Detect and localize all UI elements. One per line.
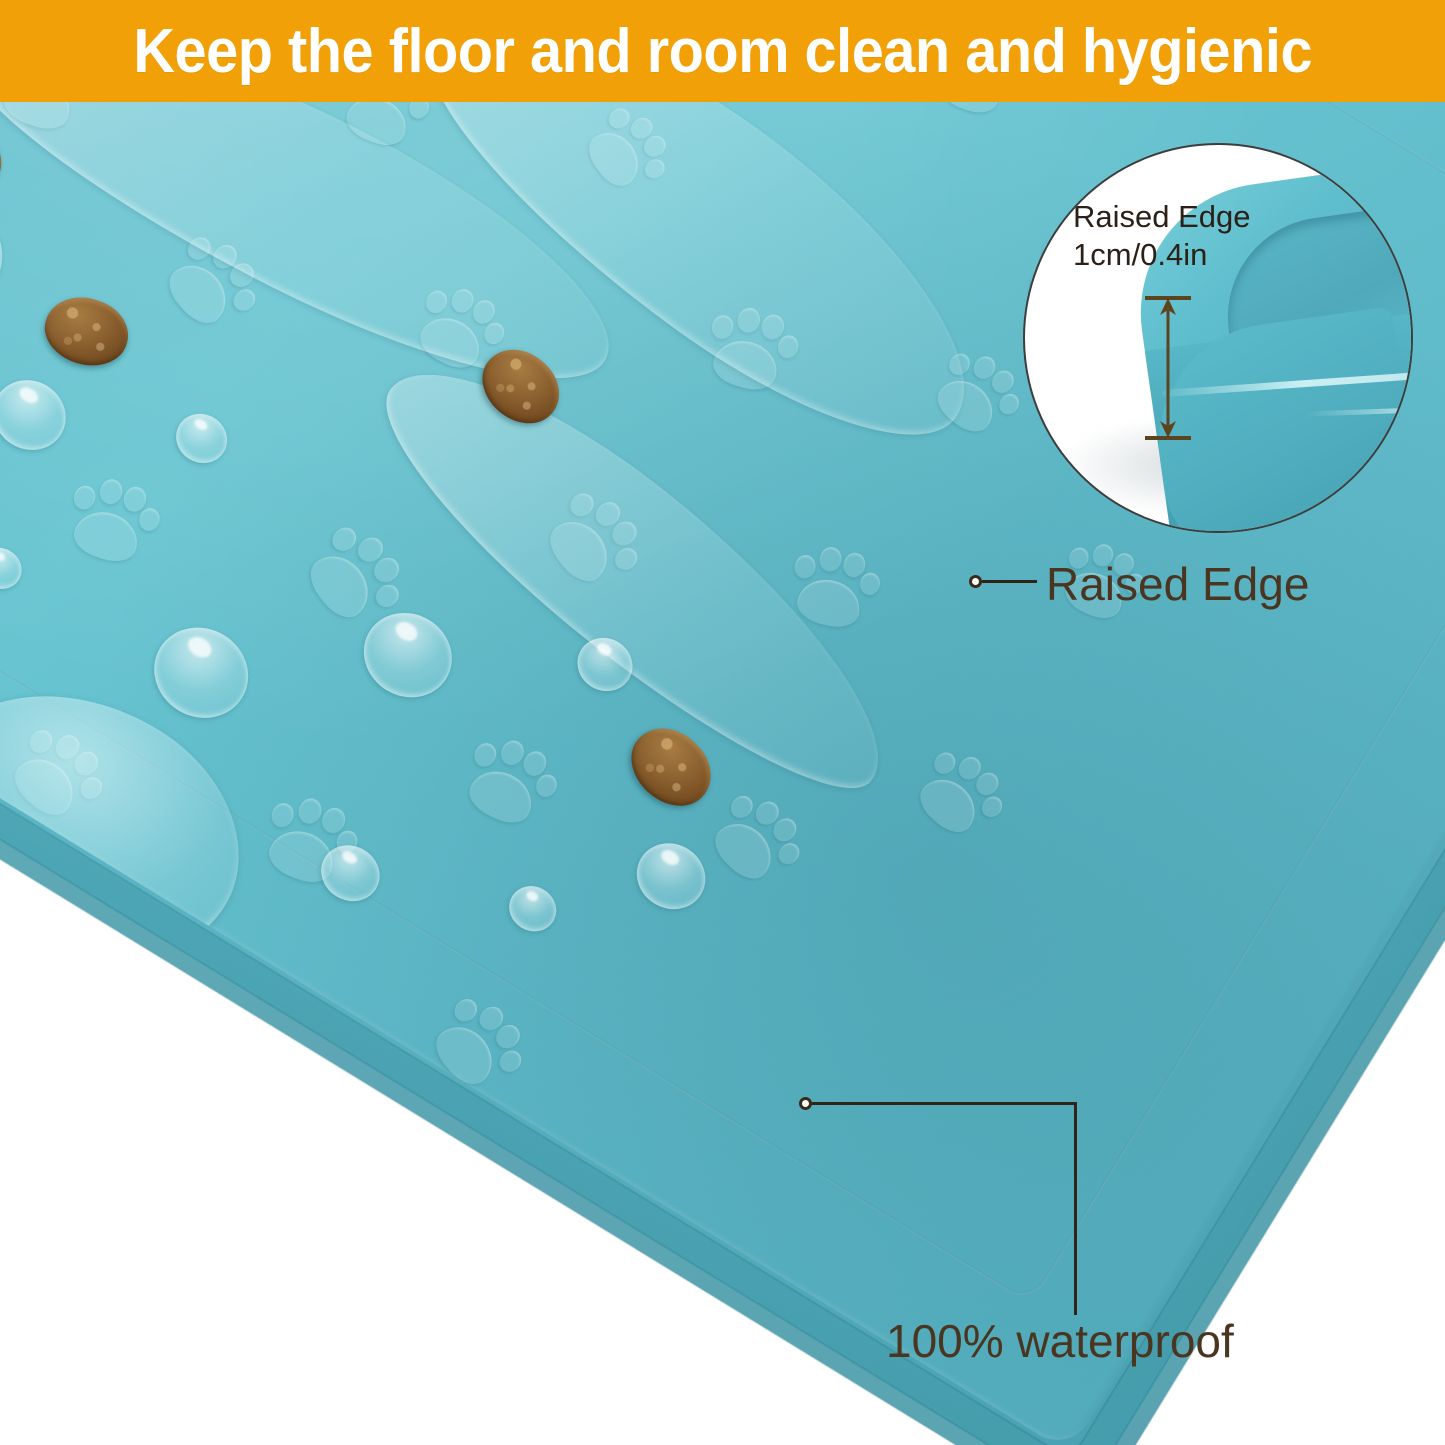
dimension-arrow-icon: [1137, 293, 1199, 443]
callout-dot-waterproof: [799, 1097, 812, 1110]
callout-dot-raised-edge: [969, 575, 982, 588]
callout-leader-waterproof-vertical: [1074, 1102, 1077, 1315]
callout-label-raised-edge: Raised Edge: [1046, 557, 1309, 611]
callout-leader-waterproof-horizontal: [811, 1102, 1077, 1105]
banner-headline: Keep the floor and room clean and hygien…: [133, 16, 1312, 87]
raised-edge-inset: Raised Edge 1cm/0.4in: [1023, 143, 1413, 533]
product-photo: Raised Edge 1cm/0.4in Raised Edge 100% w…: [0, 102, 1445, 1445]
inset-label-line1: Raised Edge: [1073, 198, 1251, 236]
inset-label-group: Raised Edge 1cm/0.4in: [1073, 198, 1251, 274]
callout-leader-raised-edge: [982, 580, 1037, 583]
inset-label-line2: 1cm/0.4in: [1073, 236, 1251, 274]
header-banner: Keep the floor and room clean and hygien…: [0, 0, 1445, 102]
product-image: Keep the floor and room clean and hygien…: [0, 0, 1445, 1445]
callout-label-waterproof: 100% waterproof: [886, 1314, 1234, 1368]
